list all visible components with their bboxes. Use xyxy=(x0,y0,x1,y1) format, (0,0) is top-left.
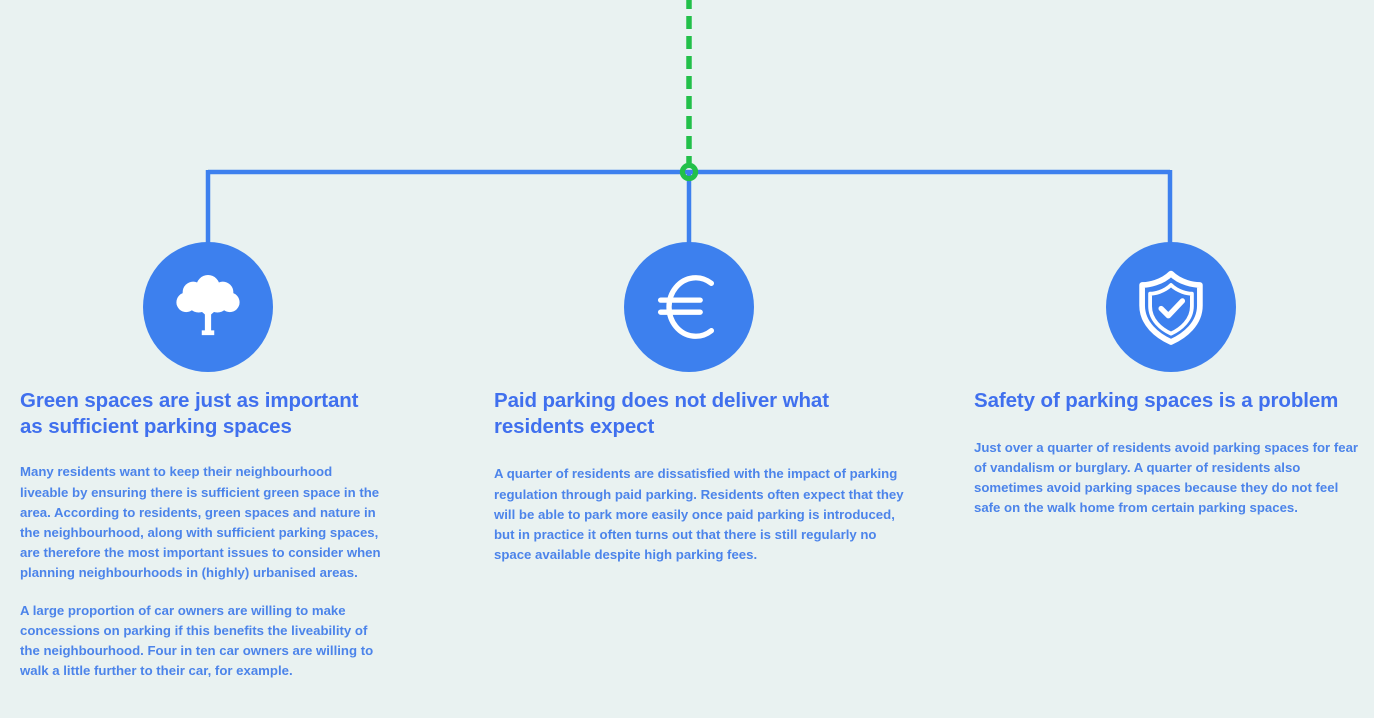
column-paid-parking: Paid parking does not deliver what resid… xyxy=(494,388,906,565)
body-paragraph: Just over a quarter of residents avoid p… xyxy=(974,438,1364,518)
tree-icon xyxy=(169,268,247,346)
icon-circle xyxy=(143,242,273,372)
trunk-junction-node xyxy=(682,165,695,178)
euro-icon xyxy=(646,264,732,350)
column-safety: Safety of parking spaces is a problem Ju… xyxy=(974,388,1364,518)
column-heading: Paid parking does not deliver what resid… xyxy=(494,388,906,440)
column-body: Many residents want to keep their neighb… xyxy=(20,462,382,681)
body-paragraph: A large proportion of car owners are wil… xyxy=(20,601,382,681)
column-heading: Green spaces are just as important as su… xyxy=(20,388,382,440)
column-body: Just over a quarter of residents avoid p… xyxy=(974,438,1364,518)
icon-circle xyxy=(624,242,754,372)
column-body: A quarter of residents are dissatisfied … xyxy=(494,464,906,564)
infographic-root: Green spaces are just as important as su… xyxy=(0,0,1374,718)
shield-check-icon xyxy=(1133,269,1209,345)
column-heading: Safety of parking spaces is a problem xyxy=(974,388,1364,414)
body-paragraph: Many residents want to keep their neighb… xyxy=(20,462,382,582)
icon-circle xyxy=(1106,242,1236,372)
column-green-spaces: Green spaces are just as important as su… xyxy=(20,388,382,681)
body-paragraph: A quarter of residents are dissatisfied … xyxy=(494,464,906,564)
